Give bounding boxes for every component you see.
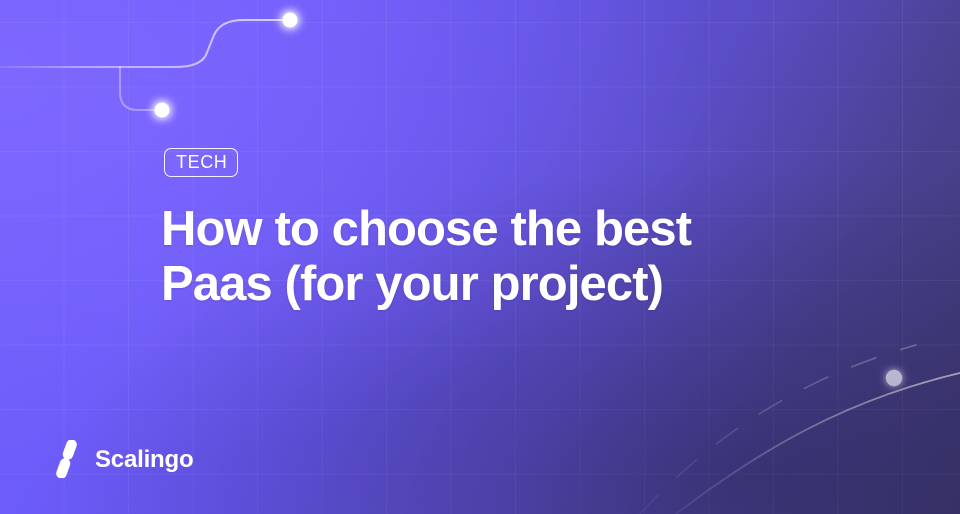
brand-name: Scalingo <box>95 448 193 472</box>
node-dot-arc <box>886 370 902 386</box>
banner-content: TECH How to choose the best Paas (for yo… <box>164 148 804 312</box>
dashed-arc-bottom-right <box>640 345 916 514</box>
connector-path-top-left <box>0 20 283 67</box>
category-badge[interactable]: TECH <box>164 148 238 177</box>
node-dot-top-right <box>283 13 298 28</box>
arc-path-bottom-right <box>676 373 960 514</box>
brand-logo-lockup[interactable]: Scalingo <box>52 440 193 478</box>
scalingo-logo-icon <box>52 440 82 478</box>
node-dot-lower <box>155 103 170 118</box>
connector-path-branch <box>120 67 155 110</box>
blog-cover-banner: TECH How to choose the best Paas (for yo… <box>0 0 960 514</box>
page-title: How to choose the best Paas (for your pr… <box>161 202 741 312</box>
